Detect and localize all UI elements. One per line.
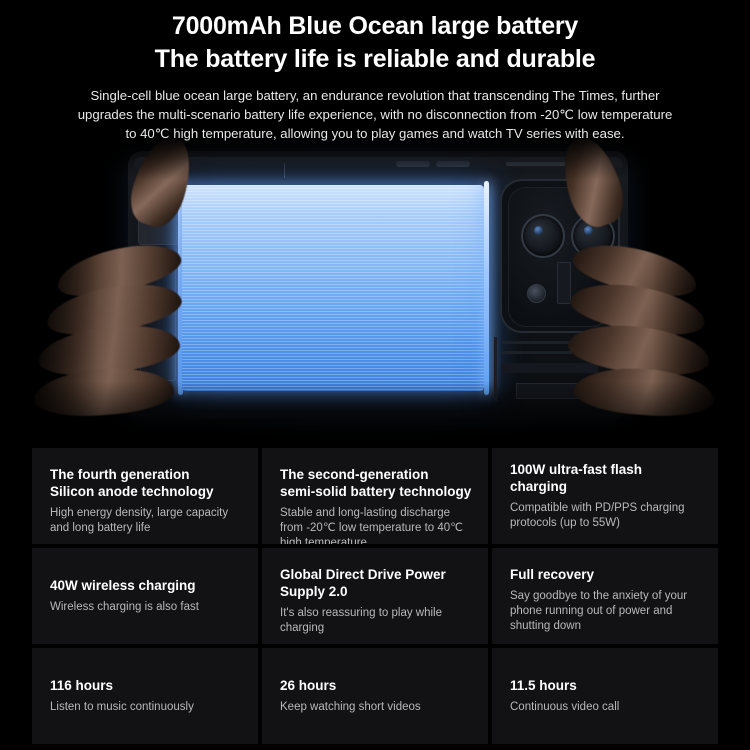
feature-card-title-line-1: The fourth generation: [50, 467, 190, 482]
feature-card-subtitle: Compatible with PD/PPS charging protocol…: [510, 501, 702, 531]
rail-notch-c: [506, 162, 566, 166]
feature-card-direct-drive-power: Global Direct Drive Power Supply 2.0 It'…: [262, 548, 488, 644]
feature-card-title: 100W ultra-fast flash charging: [510, 461, 702, 495]
feature-card-40w-wireless-charging: 40W wireless charging Wireless charging …: [32, 548, 258, 644]
feature-card-subtitle: Say goodbye to the anxiety of your phone…: [510, 589, 702, 634]
rail-notch-a: [396, 161, 430, 167]
feature-card-title-line-1: The second-generation: [280, 467, 429, 482]
feature-card-title: 26 hours: [280, 677, 472, 694]
feature-card-grid: The fourth generation Silicon anode tech…: [32, 448, 718, 744]
feature-card-subtitle: Listen to music continuously: [50, 700, 242, 715]
feature-card-title: 11.5 hours: [510, 677, 702, 694]
feature-card-silicon-anode: The fourth generation Silicon anode tech…: [32, 448, 258, 544]
feature-card-title-line-1: Global Direct Drive Power: [280, 567, 446, 582]
feature-card-title-line-2: Supply 2.0: [280, 584, 348, 599]
board-trace-2: [502, 351, 572, 354]
page-title-line-2: The battery life is reliable and durable: [0, 43, 750, 76]
rail-notch-b: [436, 161, 470, 167]
feature-card-title: Full recovery: [510, 566, 702, 583]
feature-card-title: 116 hours: [50, 677, 242, 694]
feature-card-title: The second-generation semi-solid battery…: [280, 466, 472, 500]
battery-feature-page: 7000mAh Blue Ocean large battery The bat…: [0, 0, 750, 750]
feature-card-title: Global Direct Drive Power Supply 2.0: [280, 566, 472, 600]
phone-xray-illustration: [128, 151, 628, 419]
feature-card-title: 40W wireless charging: [50, 577, 242, 594]
board-trace-vertical: [494, 337, 497, 401]
camera-sensor-small: [527, 284, 546, 303]
feature-card-subtitle: It's also reassuring to play while charg…: [280, 606, 472, 636]
battery-cell-glow: [182, 185, 484, 391]
camera-lens-primary-dot: [534, 226, 543, 235]
camera-flex-strip: [557, 262, 571, 304]
camera-lens-secondary-dot: [584, 226, 593, 235]
phone-top-rail: [134, 157, 622, 172]
rail-seam: [284, 163, 285, 178]
hero-image: [0, 137, 750, 442]
camera-lens-primary: [521, 214, 565, 258]
page-title-line-1: 7000mAh Blue Ocean large battery: [0, 10, 750, 43]
feature-card-subtitle: Wireless charging is also fast: [50, 600, 242, 615]
feature-card-title-line-2: semi-solid battery technology: [280, 484, 471, 499]
board-chip-1: [502, 363, 598, 373]
feature-card-116-hours-music: 116 hours Listen to music continuously: [32, 648, 258, 744]
feature-card-subtitle: High energy density, large capacity and …: [50, 506, 242, 536]
feature-card-title: The fourth generation Silicon anode tech…: [50, 466, 242, 500]
feature-card-subtitle: Stable and long-lasting discharge from -…: [280, 506, 472, 544]
page-header: 7000mAh Blue Ocean large battery The bat…: [0, 0, 750, 143]
feature-card-11-5-hours-video-call: 11.5 hours Continuous video call: [492, 648, 718, 744]
feature-card-100w-flash-charging: 100W ultra-fast flash charging Compatibl…: [492, 448, 718, 544]
feature-card-subtitle: Keep watching short videos: [280, 700, 472, 715]
feature-card-full-recovery: Full recovery Say goodbye to the anxiety…: [492, 548, 718, 644]
feature-card-title-line-2: Silicon anode technology: [50, 484, 214, 499]
battery-edge-right: [484, 181, 489, 395]
feature-card-subtitle: Continuous video call: [510, 700, 702, 715]
page-description: Single-cell blue ocean large battery, an…: [75, 86, 675, 143]
feature-card-semi-solid-battery: The second-generation semi-solid battery…: [262, 448, 488, 544]
feature-card-26-hours-video: 26 hours Keep watching short videos: [262, 648, 488, 744]
